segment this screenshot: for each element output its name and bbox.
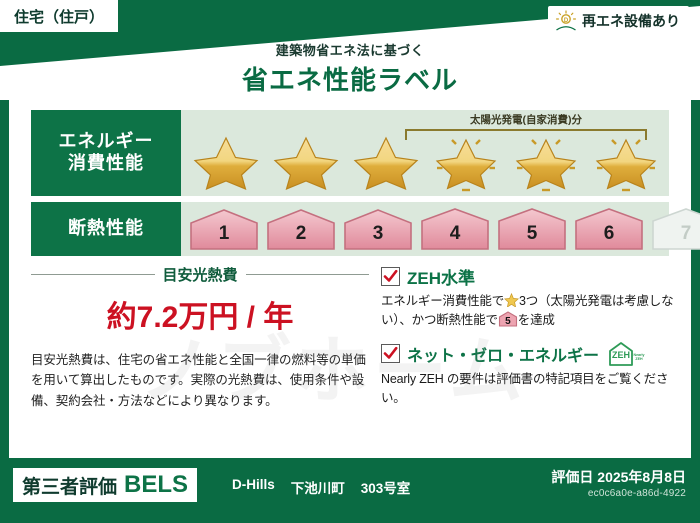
document-type-label: 住宅（住戸） bbox=[14, 6, 104, 27]
bels-en-label: BELS bbox=[124, 471, 188, 499]
inline-house-number: 5 bbox=[498, 314, 518, 330]
zeh-standard-title: ZEH水準 bbox=[407, 264, 475, 289]
star-solar bbox=[507, 134, 585, 192]
room-number: 303号室 bbox=[361, 477, 411, 497]
insulation-tag-label: 断熱性能 bbox=[68, 218, 144, 240]
insulation-level-number: 1 bbox=[187, 223, 261, 245]
energy-performance-row: エネルギー 消費性能 太陽光発電(自家消費)分 bbox=[31, 110, 669, 196]
renewable-energy-badge: D 再エネ設備あり bbox=[548, 6, 689, 36]
insulation-performance-row: 断熱性能 1 2 bbox=[31, 202, 669, 256]
renewable-energy-badge-label: 再エネ設備あり bbox=[582, 11, 680, 31]
energy-tag-line1: エネルギー bbox=[59, 131, 154, 153]
insulation-performance-tag: 断熱性能 bbox=[31, 202, 181, 256]
insulation-level-number: 7 bbox=[649, 223, 700, 245]
zeh-desc-part1: エネルギー消費性能で bbox=[381, 294, 504, 308]
title-main: 省エネ性能ラベル bbox=[0, 60, 700, 97]
title-block: 建築物省エネ法に基づく 省エネ性能ラベル bbox=[0, 40, 700, 97]
district-name: 下池川町 bbox=[291, 477, 345, 497]
solar-sun-icon: D bbox=[554, 10, 578, 32]
insulation-level-badge: 6 bbox=[572, 207, 646, 251]
lower-section: 目安光熱費 約7.2万円 / 年 目安光熱費は、住宅の省エネ性能と全国一律の燃料… bbox=[9, 264, 691, 450]
insulation-level-badge-inactive: 7 bbox=[649, 207, 700, 251]
star-filled bbox=[187, 134, 265, 192]
star-solar bbox=[427, 134, 505, 192]
insulation-level-badge: 5 bbox=[495, 207, 569, 251]
zeh-house-logo-icon: ZEH Nearly ZEH bbox=[606, 341, 646, 367]
solar-generation-caption: 太陽光発電(自家消費)分 bbox=[405, 112, 647, 127]
utility-cost-panel: 目安光熱費 約7.2万円 / 年 目安光熱費は、住宅の省エネ性能と全国一律の燃料… bbox=[31, 264, 369, 411]
insulation-level-number: 5 bbox=[495, 223, 569, 245]
svg-text:ZEH: ZEH bbox=[635, 357, 643, 361]
utility-cost-heading-label: 目安光熱費 bbox=[163, 264, 238, 285]
svg-text:ZEH: ZEH bbox=[612, 350, 630, 360]
insulation-level-number: 3 bbox=[341, 223, 415, 245]
net-zero-energy-block: ネット・ゼロ・エネルギー ZEH Nearly ZEH Nearly ZEH の… bbox=[381, 341, 677, 409]
insulation-level-number: 2 bbox=[264, 223, 338, 245]
insulation-level-badge: 1 bbox=[187, 207, 261, 251]
net-zero-energy-checkbox[interactable] bbox=[381, 344, 400, 363]
zeh-desc-part2: を達成 bbox=[518, 313, 555, 327]
rule-right bbox=[246, 274, 370, 275]
inline-house-badge: 5 bbox=[498, 311, 518, 327]
utility-cost-note: 目安光熱費は、住宅の省エネ性能と全国一律の燃料等の単価を用いて算出したものです。… bbox=[31, 350, 369, 411]
utility-cost-value: 約7.2万円 / 年 bbox=[31, 292, 369, 336]
title-subtitle: 建築物省エネ法に基づく bbox=[0, 40, 700, 59]
main-card: ノブホーム エネルギー 消費性能 太陽光発電(自家消費)分 bbox=[9, 96, 691, 458]
building-name: D-Hills bbox=[232, 477, 275, 497]
energy-performance-tag: エネルギー 消費性能 bbox=[31, 110, 181, 196]
zeh-standard-block: ZEH水準 エネルギー消費性能で3つ（太陽光発電は考慮しない）、かつ断熱性能で5… bbox=[381, 264, 677, 331]
zeh-standard-head: ZEH水準 bbox=[381, 264, 677, 289]
bels-logo-box: 第三者評価 BELS bbox=[13, 468, 197, 502]
zeh-standard-description: エネルギー消費性能で3つ（太陽光発電は考慮しない）、かつ断熱性能で5を達成 bbox=[381, 292, 677, 331]
insulation-level-number: 4 bbox=[418, 223, 492, 245]
utility-cost-heading: 目安光熱費 bbox=[31, 264, 369, 285]
evaluation-date: 評価日 2025年8月8日 bbox=[551, 467, 686, 487]
svg-text:D: D bbox=[564, 18, 569, 24]
star-rating-group bbox=[181, 134, 669, 192]
energy-performance-body: 太陽光発電(自家消費)分 bbox=[181, 110, 669, 196]
insulation-level-badge: 3 bbox=[341, 207, 415, 251]
energy-tag-line2: 消費性能 bbox=[68, 153, 144, 175]
insulation-level-number: 6 bbox=[572, 223, 646, 245]
evaluation-id: ec0c6a0e-a86d-4922 bbox=[588, 488, 686, 499]
insulation-level-badge: 4 bbox=[418, 207, 492, 251]
star-solar bbox=[587, 134, 665, 192]
insulation-level-group: 1 2 3 4 5 bbox=[187, 207, 700, 251]
insulation-performance-body: 1 2 3 4 5 bbox=[181, 202, 669, 256]
footer-bar: 第三者評価 BELS D-Hills 下池川町 303号室 評価日 2025年8… bbox=[0, 458, 700, 523]
net-zero-energy-description: Nearly ZEH の要件は評価書の特記項目をご覧ください。 bbox=[381, 370, 677, 409]
star-filled bbox=[267, 134, 345, 192]
star-filled bbox=[347, 134, 425, 192]
bels-jp-label: 第三者評価 bbox=[22, 472, 117, 499]
property-address: D-Hills 下池川町 303号室 bbox=[232, 477, 410, 497]
energy-performance-label: 住宅（住戸） D 再エネ設備あり 建築物省エネ法に基づく 省エネ性能ラベル bbox=[0, 0, 700, 523]
insulation-level-badge: 2 bbox=[264, 207, 338, 251]
net-zero-energy-head: ネット・ゼロ・エネルギー ZEH Nearly ZEH bbox=[381, 341, 677, 367]
zeh-standard-checkbox[interactable] bbox=[381, 267, 400, 286]
rule-left bbox=[31, 274, 155, 275]
document-type-tab: 住宅（住戸） bbox=[0, 0, 118, 32]
inline-star-icon bbox=[504, 293, 519, 307]
net-zero-energy-title: ネット・ゼロ・エネルギー bbox=[407, 342, 599, 366]
certification-panel: ZEH水準 エネルギー消費性能で3つ（太陽光発電は考慮しない）、かつ断熱性能で5… bbox=[381, 264, 677, 419]
